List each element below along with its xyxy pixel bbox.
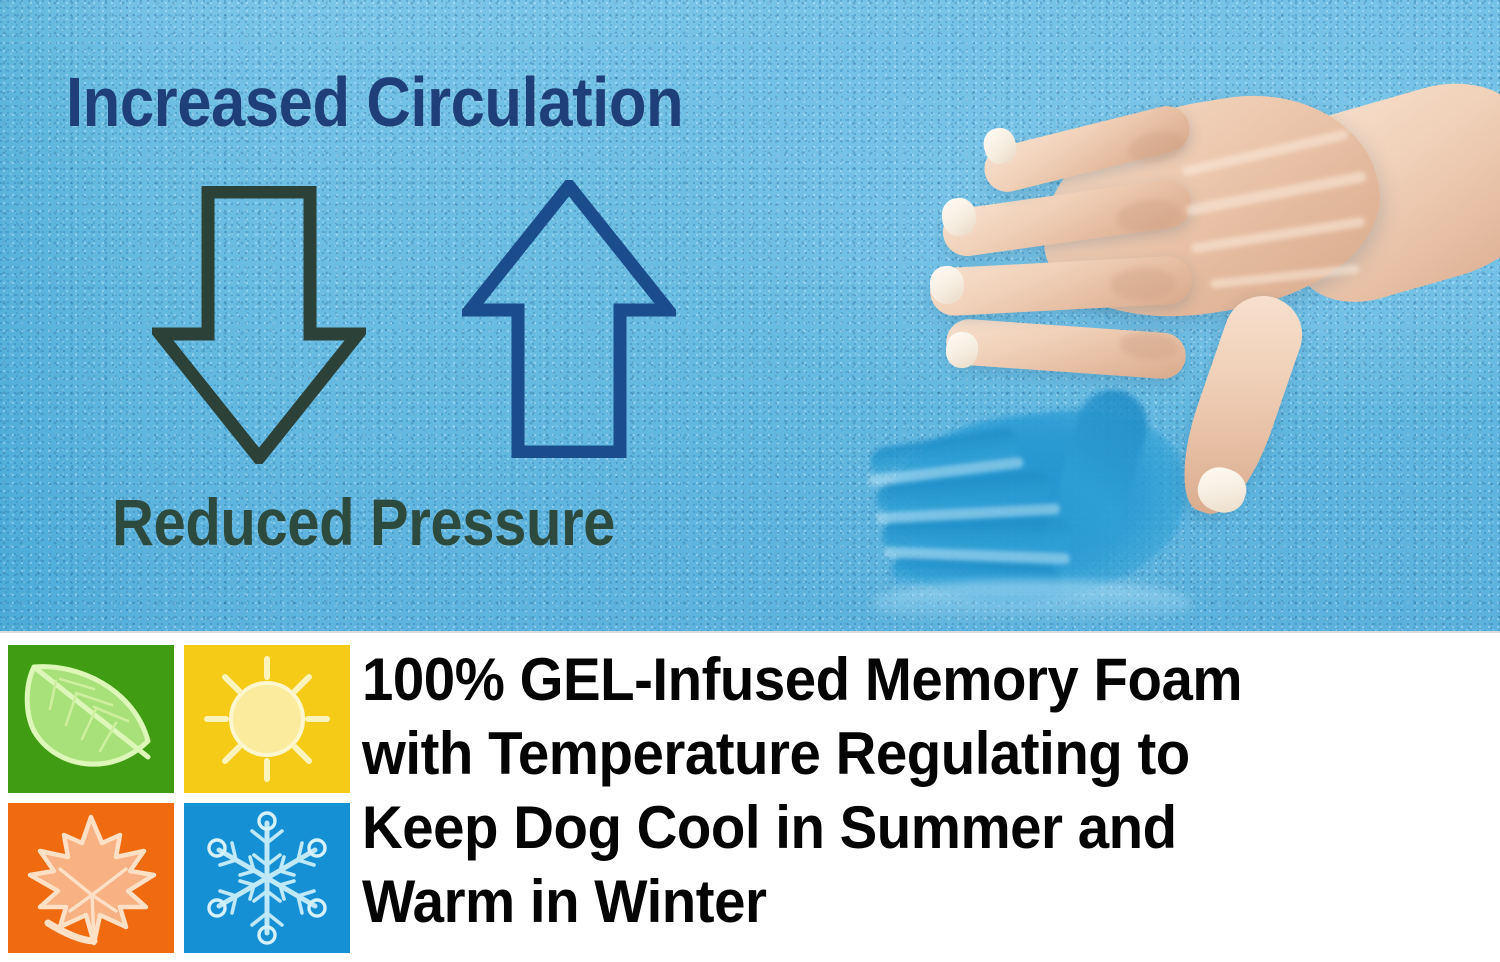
season-tile-spring bbox=[8, 645, 174, 793]
season-tile-winter bbox=[184, 803, 350, 953]
up-arrow-icon bbox=[462, 180, 676, 458]
down-arrow-icon bbox=[152, 186, 366, 464]
hand-pressing-foam bbox=[880, 96, 1500, 526]
sun-icon bbox=[184, 645, 350, 793]
season-tile-summer bbox=[184, 645, 350, 793]
feature-callout-band: 100% GEL-Infused Memory Foam with Temper… bbox=[0, 631, 1500, 962]
snowflake-icon bbox=[184, 803, 350, 953]
headline-line-3: Keep Dog Cool in Summer and bbox=[362, 791, 1432, 865]
product-feature-graphic: Increased Circulation Reduced Pressure bbox=[0, 0, 1500, 962]
feature-headline: 100% GEL-Infused Memory Foam with Temper… bbox=[362, 643, 1432, 939]
season-icon-grid bbox=[8, 645, 350, 955]
headline-line-2: with Temperature Regulating to bbox=[362, 717, 1432, 791]
season-tile-autumn bbox=[8, 803, 174, 953]
handprint-rim bbox=[872, 580, 1192, 626]
maple-leaf-icon bbox=[8, 803, 174, 953]
ring-nail bbox=[929, 265, 965, 305]
headline-line-4: Warm in Winter bbox=[362, 865, 1432, 939]
gel-foam-photo: Increased Circulation Reduced Pressure bbox=[0, 0, 1500, 631]
reduced-pressure-label: Reduced Pressure bbox=[112, 484, 615, 560]
headline-line-1: 100% GEL-Infused Memory Foam bbox=[362, 643, 1432, 717]
leaf-icon bbox=[8, 645, 174, 793]
increased-circulation-label: Increased Circulation bbox=[66, 62, 683, 142]
